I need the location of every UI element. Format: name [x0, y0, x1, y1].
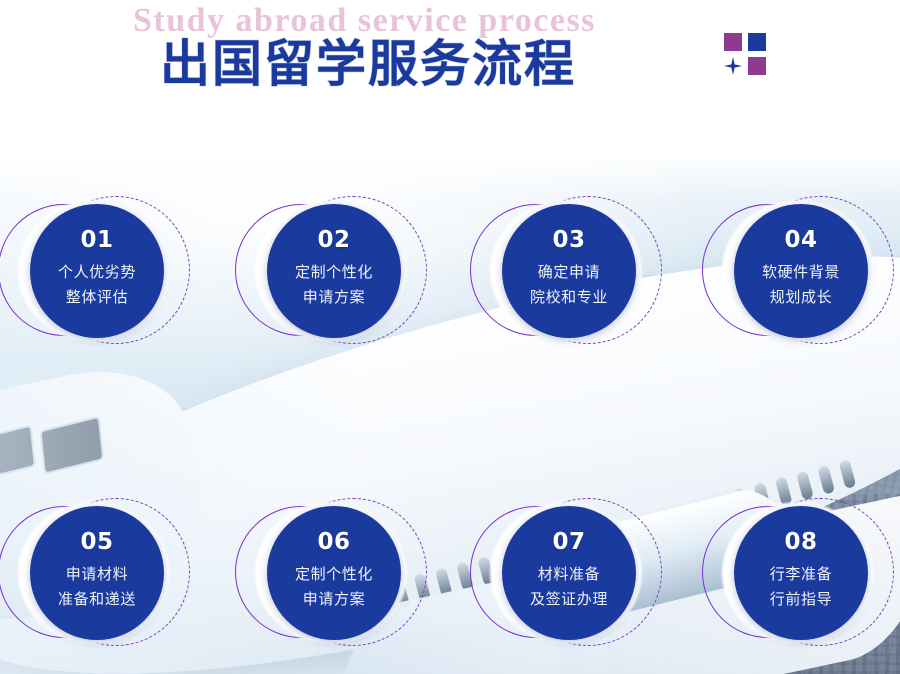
step-text-line-1: 确定申请: [538, 261, 600, 284]
badge-disc[interactable]: 04 软硬件背景 规划成长: [734, 204, 868, 338]
step-number: 08: [784, 531, 817, 554]
step-number: 01: [80, 229, 113, 252]
step-text-line-2: 规划成长: [770, 286, 832, 309]
step-badge[interactable]: 06 定制个性化 申请方案: [235, 492, 425, 652]
title-block: Study abroad service process 出国留学服务流程: [0, 0, 900, 160]
badge-disc[interactable]: 03 确定申请 院校和专业: [502, 204, 636, 338]
four-point-star-icon: [724, 57, 742, 75]
step-badge[interactable]: 05 申请材料 准备和递送: [0, 492, 188, 652]
badge-disc[interactable]: 07 材料准备 及签证办理: [502, 506, 636, 640]
step-row-bottom: 05 申请材料 准备和递送 06 定制个性化 申请方案 07 材料准备 及签证办…: [0, 492, 900, 652]
step-text-line-1: 行李准备: [770, 563, 832, 586]
purple-square-icon-2: [748, 57, 766, 75]
step-text-line-1: 材料准备: [538, 563, 600, 586]
step-text-line-2: 申请方案: [303, 286, 365, 309]
step-badge[interactable]: 02 定制个性化 申请方案: [235, 190, 425, 350]
step-number: 05: [80, 531, 113, 554]
step-badge[interactable]: 03 确定申请 院校和专业: [470, 190, 660, 350]
title-decoration: [724, 33, 768, 77]
step-text-line-2: 整体评估: [66, 286, 128, 309]
badge-disc[interactable]: 01 个人优劣势 整体评估: [30, 204, 164, 338]
step-text-line-1: 定制个性化: [295, 563, 373, 586]
step-text-line-1: 个人优劣势: [58, 261, 136, 284]
badge-disc[interactable]: 05 申请材料 准备和递送: [30, 506, 164, 640]
step-text-line-2: 及签证办理: [530, 588, 608, 611]
badge-disc[interactable]: 06 定制个性化 申请方案: [267, 506, 401, 640]
step-number: 04: [784, 229, 817, 252]
badge-disc[interactable]: 02 定制个性化 申请方案: [267, 204, 401, 338]
step-text-line-2: 院校和专业: [530, 286, 608, 309]
step-text-line-2: 申请方案: [303, 588, 365, 611]
blue-square-icon: [748, 33, 766, 51]
step-number: 02: [317, 229, 350, 252]
step-badge[interactable]: 04 软硬件背景 规划成长: [702, 190, 892, 350]
step-text-line-1: 定制个性化: [295, 261, 373, 284]
step-number: 07: [552, 531, 585, 554]
step-text-line-1: 申请材料: [66, 563, 128, 586]
badge-disc[interactable]: 08 行李准备 行前指导: [734, 506, 868, 640]
step-badge[interactable]: 08 行李准备 行前指导: [702, 492, 892, 652]
step-text-line-2: 行前指导: [770, 588, 832, 611]
purple-square-icon: [724, 33, 742, 51]
step-badge[interactable]: 07 材料准备 及签证办理: [470, 492, 660, 652]
page-title: 出国留学服务流程: [160, 24, 576, 96]
step-text-line-1: 软硬件背景: [762, 261, 840, 284]
step-badge[interactable]: 01 个人优劣势 整体评估: [0, 190, 188, 350]
step-text-line-2: 准备和递送: [58, 588, 136, 611]
step-number: 06: [317, 531, 350, 554]
step-number: 03: [552, 229, 585, 252]
step-row-top: 01 个人优劣势 整体评估 02 定制个性化 申请方案 03 确定申请 院校和专…: [0, 190, 900, 350]
